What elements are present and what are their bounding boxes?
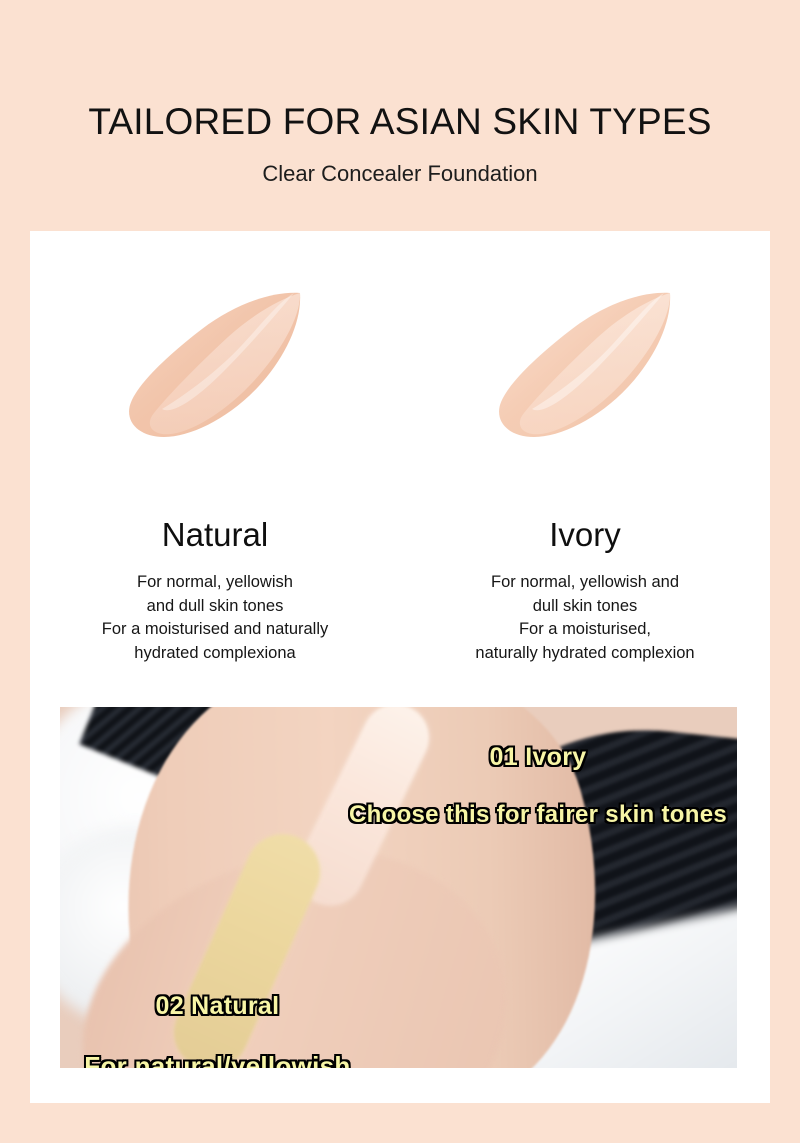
page-title: TAILORED FOR ASIAN SKIN TYPES xyxy=(0,101,800,143)
content-card: Natural For normal, yellowish and dull s… xyxy=(30,231,770,1103)
overlay-ivory-line-2: Choose this for fairer skin tones xyxy=(349,801,727,829)
swatch-natural-wrap xyxy=(30,271,400,486)
overlay-ivory-line-1: 01 Ivory xyxy=(349,743,727,773)
shade-column-natural: Natural For normal, yellowish and dull s… xyxy=(30,231,400,676)
swatch-natural-icon xyxy=(124,289,306,441)
shade-name-natural: Natural xyxy=(30,516,400,554)
page-subtitle: Clear Concealer Foundation xyxy=(0,160,800,188)
overlay-caption-natural: 02 Natural For natural/yellowish skin to… xyxy=(74,962,361,1068)
swatch-photo: 01 Ivory Choose this for fairer skin ton… xyxy=(60,707,737,1068)
shade-column-ivory: Ivory For normal, yellowish and dull ski… xyxy=(400,231,770,676)
shade-description-natural: For normal, yellowish and dull skin tone… xyxy=(30,571,400,665)
shade-description-ivory: For normal, yellowish and dull skin tone… xyxy=(400,571,770,665)
page-header: TAILORED FOR ASIAN SKIN TYPES Clear Conc… xyxy=(0,0,800,231)
swatch-ivory-icon xyxy=(494,289,676,441)
swatch-ivory-wrap xyxy=(400,271,770,486)
overlay-natural-line-1: 02 Natural xyxy=(74,992,361,1022)
shade-name-ivory: Ivory xyxy=(400,516,770,554)
shade-comparison: Natural For normal, yellowish and dull s… xyxy=(30,231,770,676)
overlay-natural-line-2: For natural/yellowish xyxy=(74,1051,361,1069)
overlay-caption-ivory: 01 Ivory Choose this for fairer skin ton… xyxy=(349,715,727,858)
